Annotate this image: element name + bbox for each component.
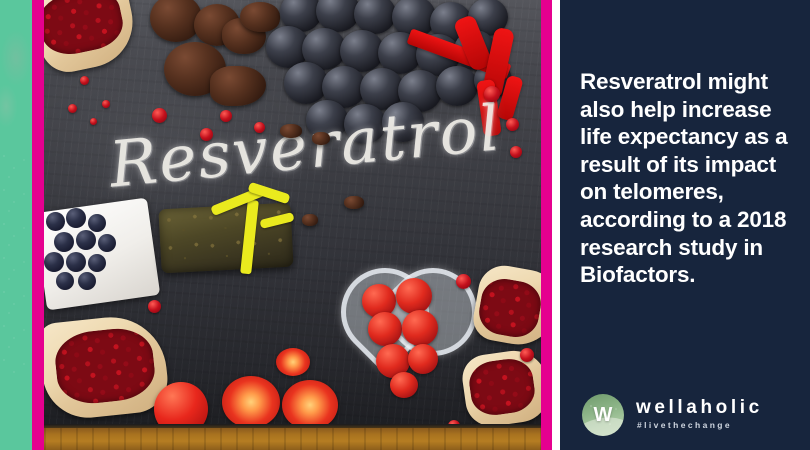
logo-mark-icon: W xyxy=(582,394,624,436)
seed xyxy=(148,300,161,313)
cherry xyxy=(506,118,519,131)
seed xyxy=(68,104,77,113)
dot-texture xyxy=(0,150,32,380)
cherry xyxy=(254,122,265,133)
tomato-half xyxy=(222,376,280,428)
grape xyxy=(344,104,386,144)
herb-texture xyxy=(161,205,292,272)
seed xyxy=(80,76,89,85)
chocolate-truffle xyxy=(240,2,280,32)
blueberry xyxy=(76,230,96,250)
strawberry xyxy=(390,372,418,398)
seed xyxy=(90,118,97,125)
food-photo: Resveratrol xyxy=(44,0,541,450)
blueberry xyxy=(46,212,65,231)
blueberry xyxy=(88,214,106,232)
dried-fruit xyxy=(280,124,302,138)
logo-tagline: #livethechange xyxy=(637,421,732,430)
blueberry xyxy=(44,252,64,272)
cherry xyxy=(200,128,213,141)
cherry xyxy=(484,86,500,102)
strawberry xyxy=(368,312,402,346)
cherry xyxy=(510,146,522,158)
grape xyxy=(436,66,478,106)
teal-accent-strip xyxy=(0,0,32,450)
cherry xyxy=(152,108,167,123)
blueberry xyxy=(54,232,74,252)
white-gap xyxy=(552,0,560,450)
quote-panel: Resveratrol might also help increase lif… xyxy=(560,0,810,450)
dried-fruit xyxy=(312,132,330,145)
tomato-half xyxy=(282,380,338,430)
blueberry xyxy=(98,234,116,252)
blueberry xyxy=(66,252,86,272)
seed xyxy=(456,274,471,289)
dried-fruit xyxy=(302,214,318,226)
strawberry xyxy=(402,310,438,346)
strawberry xyxy=(408,344,438,374)
wooden-table xyxy=(44,428,541,450)
herb-jar xyxy=(158,203,293,274)
logo-wordmark: wellaholic xyxy=(636,398,763,417)
magenta-frame-left xyxy=(32,0,44,450)
dried-fruit xyxy=(344,196,364,209)
grape xyxy=(382,102,424,142)
seed xyxy=(102,100,110,108)
cherry xyxy=(220,110,232,122)
tomato-half xyxy=(276,348,310,376)
strawberry xyxy=(396,278,432,314)
logo-monogram: W xyxy=(582,394,624,436)
wellaholic-logo[interactable]: W wellaholic #livethechange xyxy=(582,392,794,440)
blueberry xyxy=(56,272,74,290)
magenta-frame-right xyxy=(541,0,552,450)
quote-text: Resveratrol might also help increase lif… xyxy=(580,68,796,289)
blueberry xyxy=(66,208,86,228)
blueberry xyxy=(78,272,96,290)
blueberry xyxy=(88,254,106,272)
seed xyxy=(520,348,534,362)
poster-canvas: Resveratrol xyxy=(0,0,810,450)
